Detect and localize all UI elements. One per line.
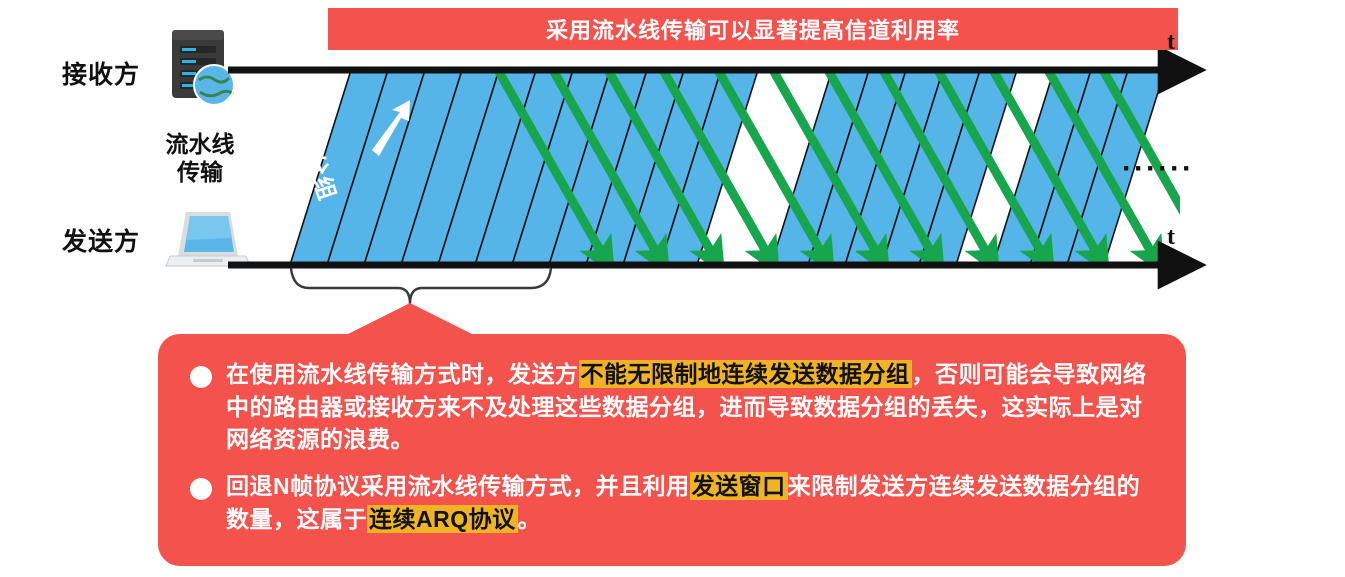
bullet-dot-icon <box>190 366 212 388</box>
continuation-ellipsis: ······ <box>1122 152 1194 186</box>
laptop-icon <box>166 212 250 266</box>
receiver-label: 接收方 <box>62 55 140 91</box>
list-item: 在使用流水线传输方式时，发送方不能无限制地连续发送数据分组，否则可能会导致网络中… <box>190 358 1162 456</box>
pipeline-transmission-label: 流水线 传输 <box>155 130 245 186</box>
sender-axis-t-label: t <box>1167 224 1175 251</box>
bullet-text: 回退N帧协议采用流水线传输方式，并且利用发送窗口来限制发送方连续发送数据分组的数… <box>226 470 1162 535</box>
highlighted-phrase: 不能无限制地连续发送数据分组 <box>579 360 912 388</box>
receiver-axis-t-label: t <box>1167 29 1175 56</box>
packet-band-group <box>290 70 1209 265</box>
sender-label: 发送方 <box>62 222 140 258</box>
headline-banner: 采用流水线传输可以显著提高信道利用率 <box>328 8 1178 50</box>
explanation-callout: 在使用流水线传输方式时，发送方不能无限制地连续发送数据分组，否则可能会导致网络中… <box>158 334 1186 566</box>
bullet-text: 在使用流水线传输方式时，发送方不能无限制地连续发送数据分组，否则可能会导致网络中… <box>226 358 1162 456</box>
server-globe-icon <box>172 30 234 105</box>
pipeline-transmission-label-line2: 传输 <box>155 158 245 186</box>
bullet-text-run: 回退N帧协议采用流水线传输方式，并且利用 <box>226 473 690 499</box>
headline-banner-text: 采用流水线传输可以显著提高信道利用率 <box>546 13 960 45</box>
bullet-dot-icon <box>190 478 212 500</box>
bullet-text-run: 在使用流水线传输方式时，发送方 <box>226 361 579 387</box>
highlighted-phrase: 发送窗口 <box>690 472 788 500</box>
curly-brace-icon <box>291 268 551 304</box>
highlighted-phrase: 连续ARQ协议 <box>367 505 518 533</box>
slide-canvas: 采用流水线传输可以显著提高信道利用率 接收方 发送方 流水线 传输 数据分组 t… <box>0 0 1345 577</box>
bullet-text-run: 。 <box>518 506 542 532</box>
explanation-callout-body: 在使用流水线传输方式时，发送方不能无限制地连续发送数据分组，否则可能会导致网络中… <box>190 358 1162 549</box>
callout-pointer <box>348 303 472 334</box>
pipeline-transmission-label-line1: 流水线 <box>155 130 245 158</box>
list-item: 回退N帧协议采用流水线传输方式，并且利用发送窗口来限制发送方连续发送数据分组的数… <box>190 470 1162 535</box>
